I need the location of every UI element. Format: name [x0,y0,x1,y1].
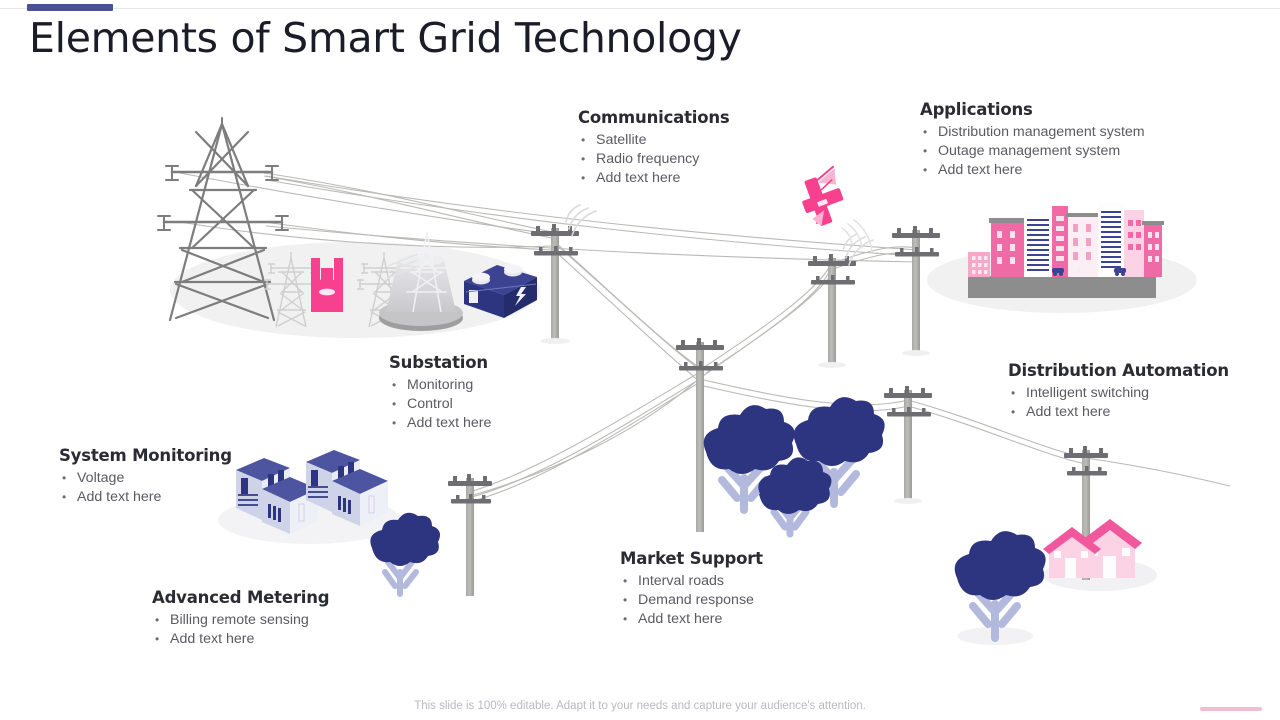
block-applications-list: Distribution management system Outage ma… [920,123,1145,180]
list-item: Add text here [620,610,763,629]
list-item: Monitoring [389,376,491,395]
block-system-monitoring: System Monitoring Voltage Add text here [59,446,232,507]
block-communications: Communications Satellite Radio frequency… [578,108,730,188]
list-item: Satellite [578,131,730,150]
block-applications: Applications Distribution management sys… [920,100,1145,180]
block-system-monitoring-list: Voltage Add text here [59,469,232,507]
pink-houses [1043,519,1142,578]
block-market-support-heading: Market Support [620,549,763,568]
block-market-support: Market Support Interval roads Demand res… [620,549,763,629]
utility-pole-c [808,254,856,368]
block-advanced-metering: Advanced Metering Billing remote sensing… [152,588,329,649]
list-item: Billing remote sensing [152,611,329,630]
list-item: Intelligent switching [1008,384,1229,403]
list-item: Demand response [620,591,763,610]
list-item: Add text here [1008,403,1229,422]
list-item: Voltage [59,469,232,488]
utility-pole-e [884,386,932,504]
list-item: Outage management system [920,142,1145,161]
list-item: Interval roads [620,572,763,591]
city-skyline [968,203,1164,298]
utility-pole-d [892,226,940,356]
block-communications-list: Satellite Radio frequency Add text here [578,131,730,188]
list-item: Add text here [59,488,232,507]
block-substation-heading: Substation [389,353,491,372]
list-item: Add text here [920,161,1145,180]
slide-canvas: Elements of Smart Grid Technology [0,0,1280,720]
block-advanced-metering-heading: Advanced Metering [152,588,329,607]
block-communications-heading: Communications [578,108,730,127]
block-system-monitoring-heading: System Monitoring [59,446,232,465]
footer-note: This slide is 100% editable. Adapt it to… [0,700,1280,712]
list-item: Distribution management system [920,123,1145,142]
satellite-icon [794,166,851,229]
block-substation: Substation Monitoring Control Add text h… [389,353,491,433]
block-advanced-metering-list: Billing remote sensing Add text here [152,611,329,649]
list-item: Add text here [578,169,730,188]
block-substation-list: Monitoring Control Add text here [389,376,491,433]
block-distribution-automation-list: Intelligent switching Add text here [1008,384,1229,422]
list-item: Control [389,395,491,414]
satellite-signal-waves [842,220,872,252]
block-market-support-list: Interval roads Demand response Add text … [620,572,763,629]
block-applications-heading: Applications [920,100,1145,119]
list-item: Add text here [389,414,491,433]
list-item: Add text here [152,630,329,649]
tree-cluster-center [704,397,885,534]
list-item: Radio frequency [578,150,730,169]
block-distribution-automation: Distribution Automation Intelligent swit… [1008,361,1229,422]
tree-bottom-right [955,531,1046,645]
block-distribution-automation-heading: Distribution Automation [1008,361,1229,380]
footer-accent-bar [1200,707,1262,711]
